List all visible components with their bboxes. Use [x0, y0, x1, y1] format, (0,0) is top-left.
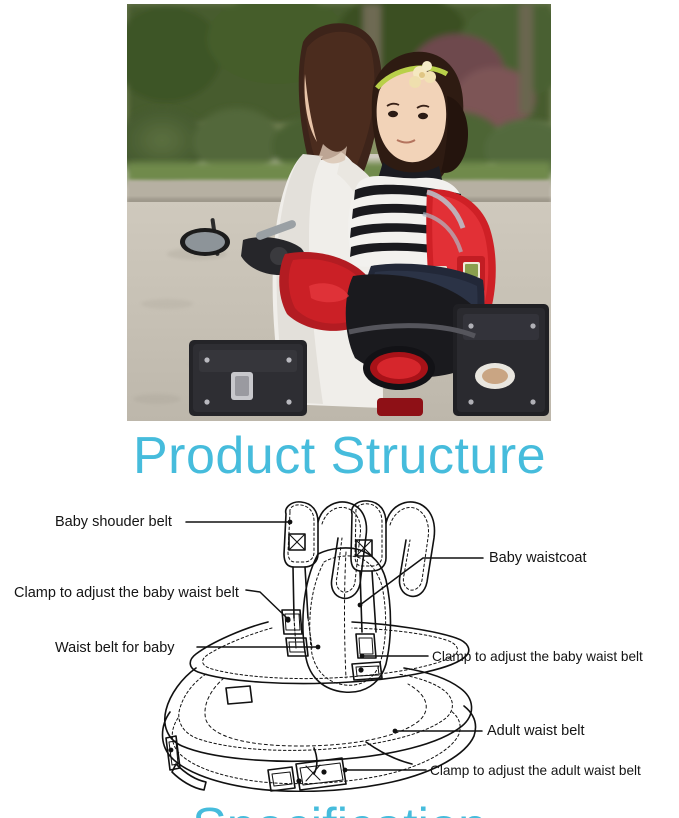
- next-section-title: Specification: [0, 798, 679, 818]
- product-photo: [127, 4, 551, 421]
- callout-clamp-adult-waist-belt: Clamp to adjust the adult waist belt: [430, 762, 641, 779]
- callout-adult-waist-belt: Adult waist belt: [487, 723, 585, 740]
- callout-clamp-baby-waist-belt-right: Clamp to adjust the baby waist belt: [432, 648, 643, 665]
- product-photo-image: [127, 4, 551, 421]
- product-structure-diagram: Baby shouder belt Clamp to adjust the ba…: [0, 492, 679, 792]
- callout-baby-waistcoat: Baby waistcoat: [489, 550, 587, 567]
- callout-waist-belt-for-baby: Waist belt for baby: [55, 640, 175, 657]
- page-title: Product Structure: [0, 427, 679, 485]
- callout-baby-shoulder-belt: Baby shouder belt: [55, 514, 172, 531]
- callout-clamp-baby-waist-belt-left: Clamp to adjust the baby waist belt: [14, 585, 239, 602]
